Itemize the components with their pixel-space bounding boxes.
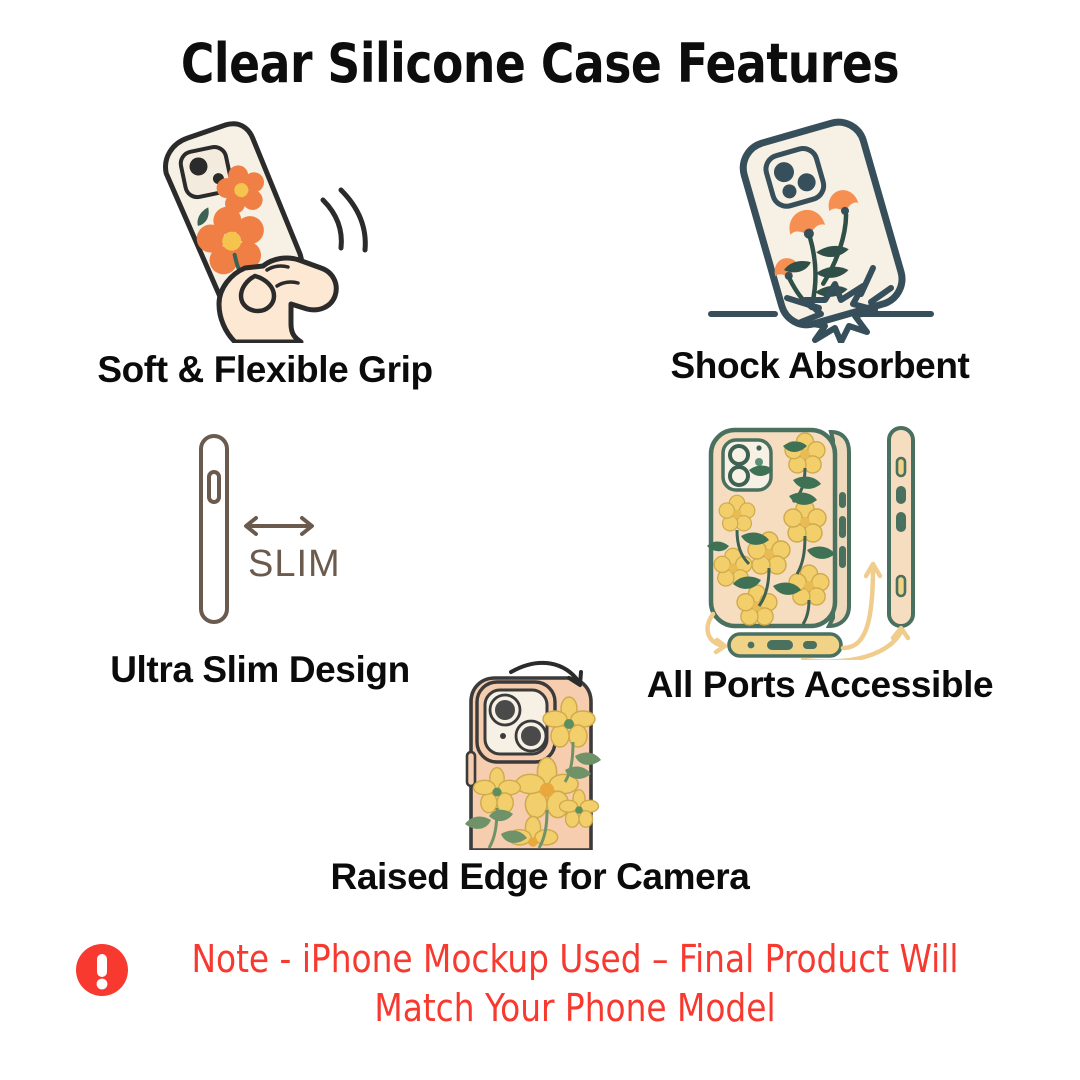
phone-case-impact-burst-icon: [600, 118, 1040, 343]
note-banner: Note - iPhone Mockup Used – Final Produc…: [0, 935, 1080, 1032]
note-text: Note - iPhone Mockup Used – Final Produc…: [162, 935, 988, 1032]
feature-soft-flexible-grip: Soft & Flexible Grip: [30, 118, 500, 391]
exclamation-circle-icon: [75, 943, 129, 1002]
phone-side-profile-width-arrow-icon: SLIM SLIM: [35, 420, 485, 635]
feature-label-shock: Shock Absorbent: [600, 345, 1040, 387]
infographic-page: Clear Silicone Case Features: [0, 0, 1080, 1080]
phone-case-back-side-bottom-ports-icon: [600, 410, 1040, 660]
feature-shock-absorbent: Shock Absorbent: [600, 118, 1040, 387]
feature-label-raised: Raised Edge for Camera: [290, 856, 790, 898]
hand-holding-flexible-phone-case-icon: [30, 118, 500, 343]
feature-raised-edge-camera: Raised Edge for Camera: [290, 660, 790, 898]
phone-case-raised-camera-bump-icon: [290, 660, 790, 850]
svg-text:SLIM: SLIM: [248, 543, 341, 585]
page-title: Clear Silicone Case Features: [32, 32, 1047, 95]
feature-label-grip: Soft & Flexible Grip: [30, 349, 500, 391]
feature-ultra-slim-design: SLIM SLIM Ultra Slim Design: [35, 420, 485, 691]
